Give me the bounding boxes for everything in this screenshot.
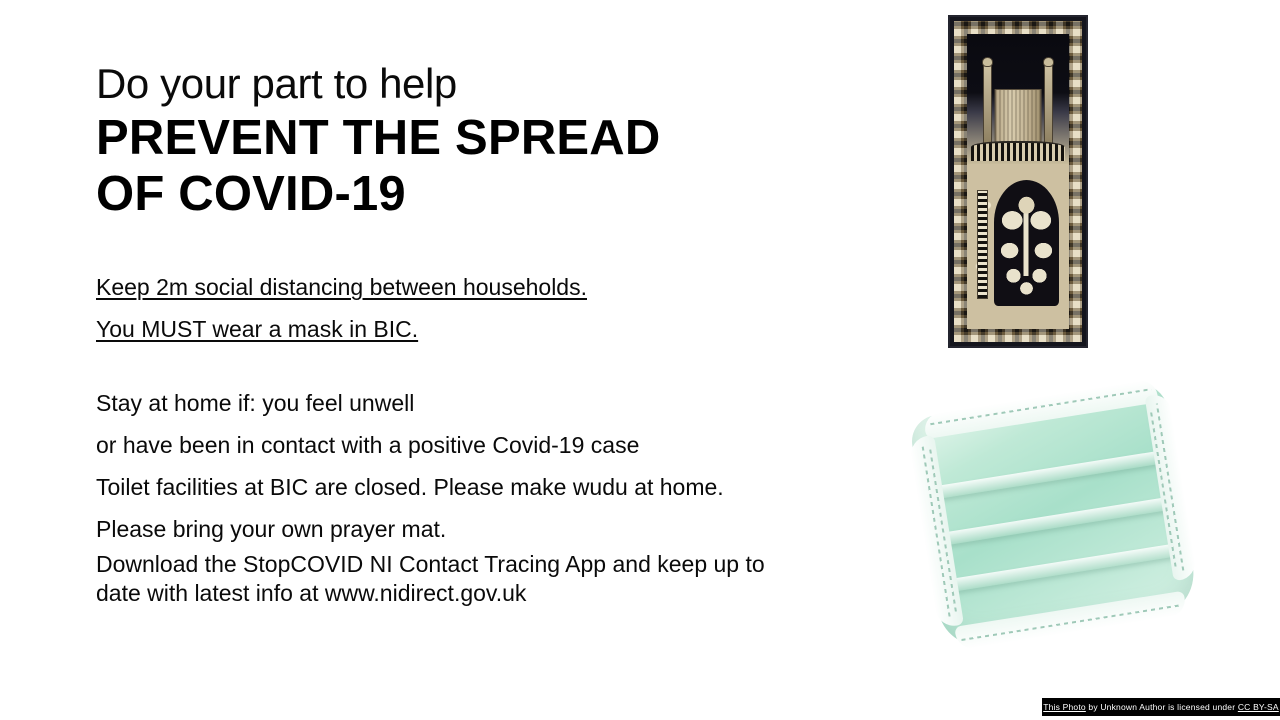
prayer-mat-image: [948, 15, 1088, 348]
body-line-toilets-closed: Toilet facilities at BIC are closed. Ple…: [96, 466, 836, 508]
face-mask-pleat: [944, 543, 1180, 593]
cc-by-sa-link[interactable]: CC BY-SA: [1238, 702, 1279, 712]
this-photo-link[interactable]: This Photo: [1043, 702, 1086, 712]
emphasis-block: Keep 2m social distancing between househ…: [96, 266, 836, 350]
headline-bold-line-1: PREVENT THE SPREAD: [96, 110, 836, 166]
face-mask-pleat: [929, 450, 1165, 500]
photo-attribution-bar: This Photo by Unknown Author is licensed…: [1042, 698, 1280, 716]
prayer-mat-mihrab-section: [967, 164, 1069, 329]
emphasis-line-distancing: Keep 2m social distancing between househ…: [96, 266, 836, 308]
prayer-mat-field: [967, 34, 1069, 329]
emphasis-line-distancing-text: Keep 2m social distancing between househ…: [96, 274, 587, 300]
minaret-right-icon: [1044, 63, 1053, 148]
mihrab-column-motif: [977, 190, 988, 299]
emphasis-line-mask-text: You MUST wear a mask in BIC.: [96, 316, 418, 342]
headline-bold-line-2: OF COVID-19: [96, 166, 836, 222]
prayer-mat-kaaba-scene: [967, 34, 1069, 164]
body-line-prayer-mat: Please bring your own prayer mat.: [96, 508, 836, 550]
slide-text-column: Do your part to help PREVENT THE SPREAD …: [96, 58, 836, 608]
face-mask-pleat: [937, 496, 1173, 546]
body-line-contact-case: or have been in contact with a positive …: [96, 424, 836, 466]
emphasis-line-mask: You MUST wear a mask in BIC.: [96, 308, 836, 350]
body-block: Stay at home if: you feel unwell or have…: [96, 382, 836, 608]
face-mask-image: [908, 379, 1199, 650]
mihrab-arch-motif: [994, 180, 1059, 306]
headline-light-line: Do your part to help: [96, 58, 836, 110]
attribution-middle-text: by Unknown Author is licensed under: [1086, 702, 1238, 712]
kaaba-icon: [995, 89, 1042, 146]
minaret-left-icon: [983, 63, 992, 148]
body-line-stopcovid-app: Download the StopCOVID NI Contact Tracin…: [96, 550, 796, 608]
body-line-stay-at-home: Stay at home if: you feel unwell: [96, 382, 836, 424]
colonnade-motif: [971, 141, 1065, 161]
